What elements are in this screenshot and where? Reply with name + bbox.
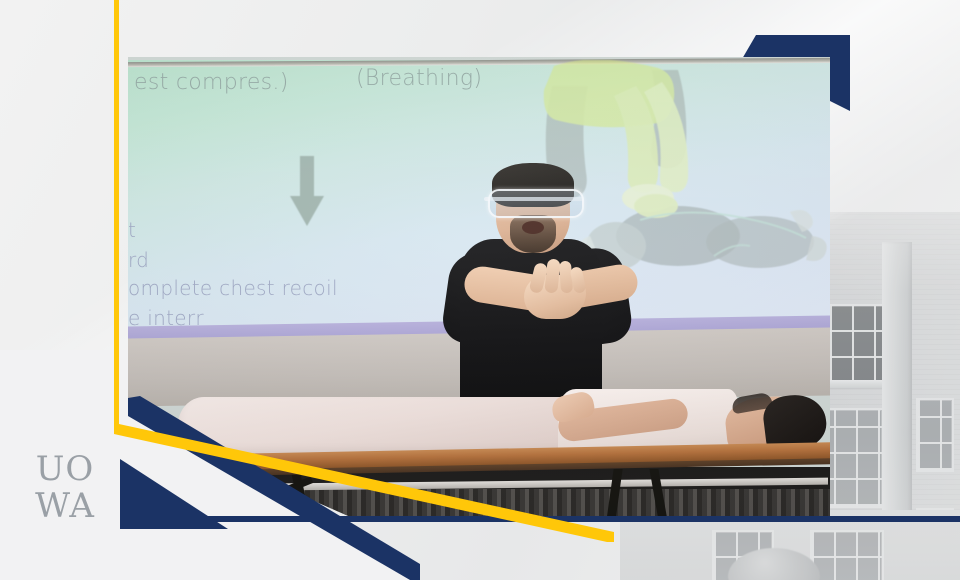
yellow-diagonal-path <box>114 424 614 542</box>
slide-heading-right: (Breathing) <box>356 66 482 91</box>
yellow-diagonal-stripe <box>114 424 634 544</box>
down-arrow-icon <box>290 156 324 228</box>
instructor-mouth <box>522 221 544 234</box>
instructor-torso-black-tshirt <box>460 239 602 409</box>
slide-bullet-1: t <box>128 218 136 242</box>
poster-canvas: est compres.) (Breathing) t rd omplete c… <box>0 0 960 580</box>
logo-line-wa: WA <box>22 489 108 523</box>
slide-bullet-2: rd <box>128 248 149 272</box>
slide-bullet-3: omplete chest recoil <box>128 276 338 300</box>
safety-goggles-icon <box>488 189 584 218</box>
slide-heading-left: est compres.) <box>134 70 289 95</box>
uowa-logo: UO WA <box>22 452 108 528</box>
yellow-vertical-stripe <box>114 0 119 432</box>
logo-line-uo: UO <box>22 452 108 486</box>
